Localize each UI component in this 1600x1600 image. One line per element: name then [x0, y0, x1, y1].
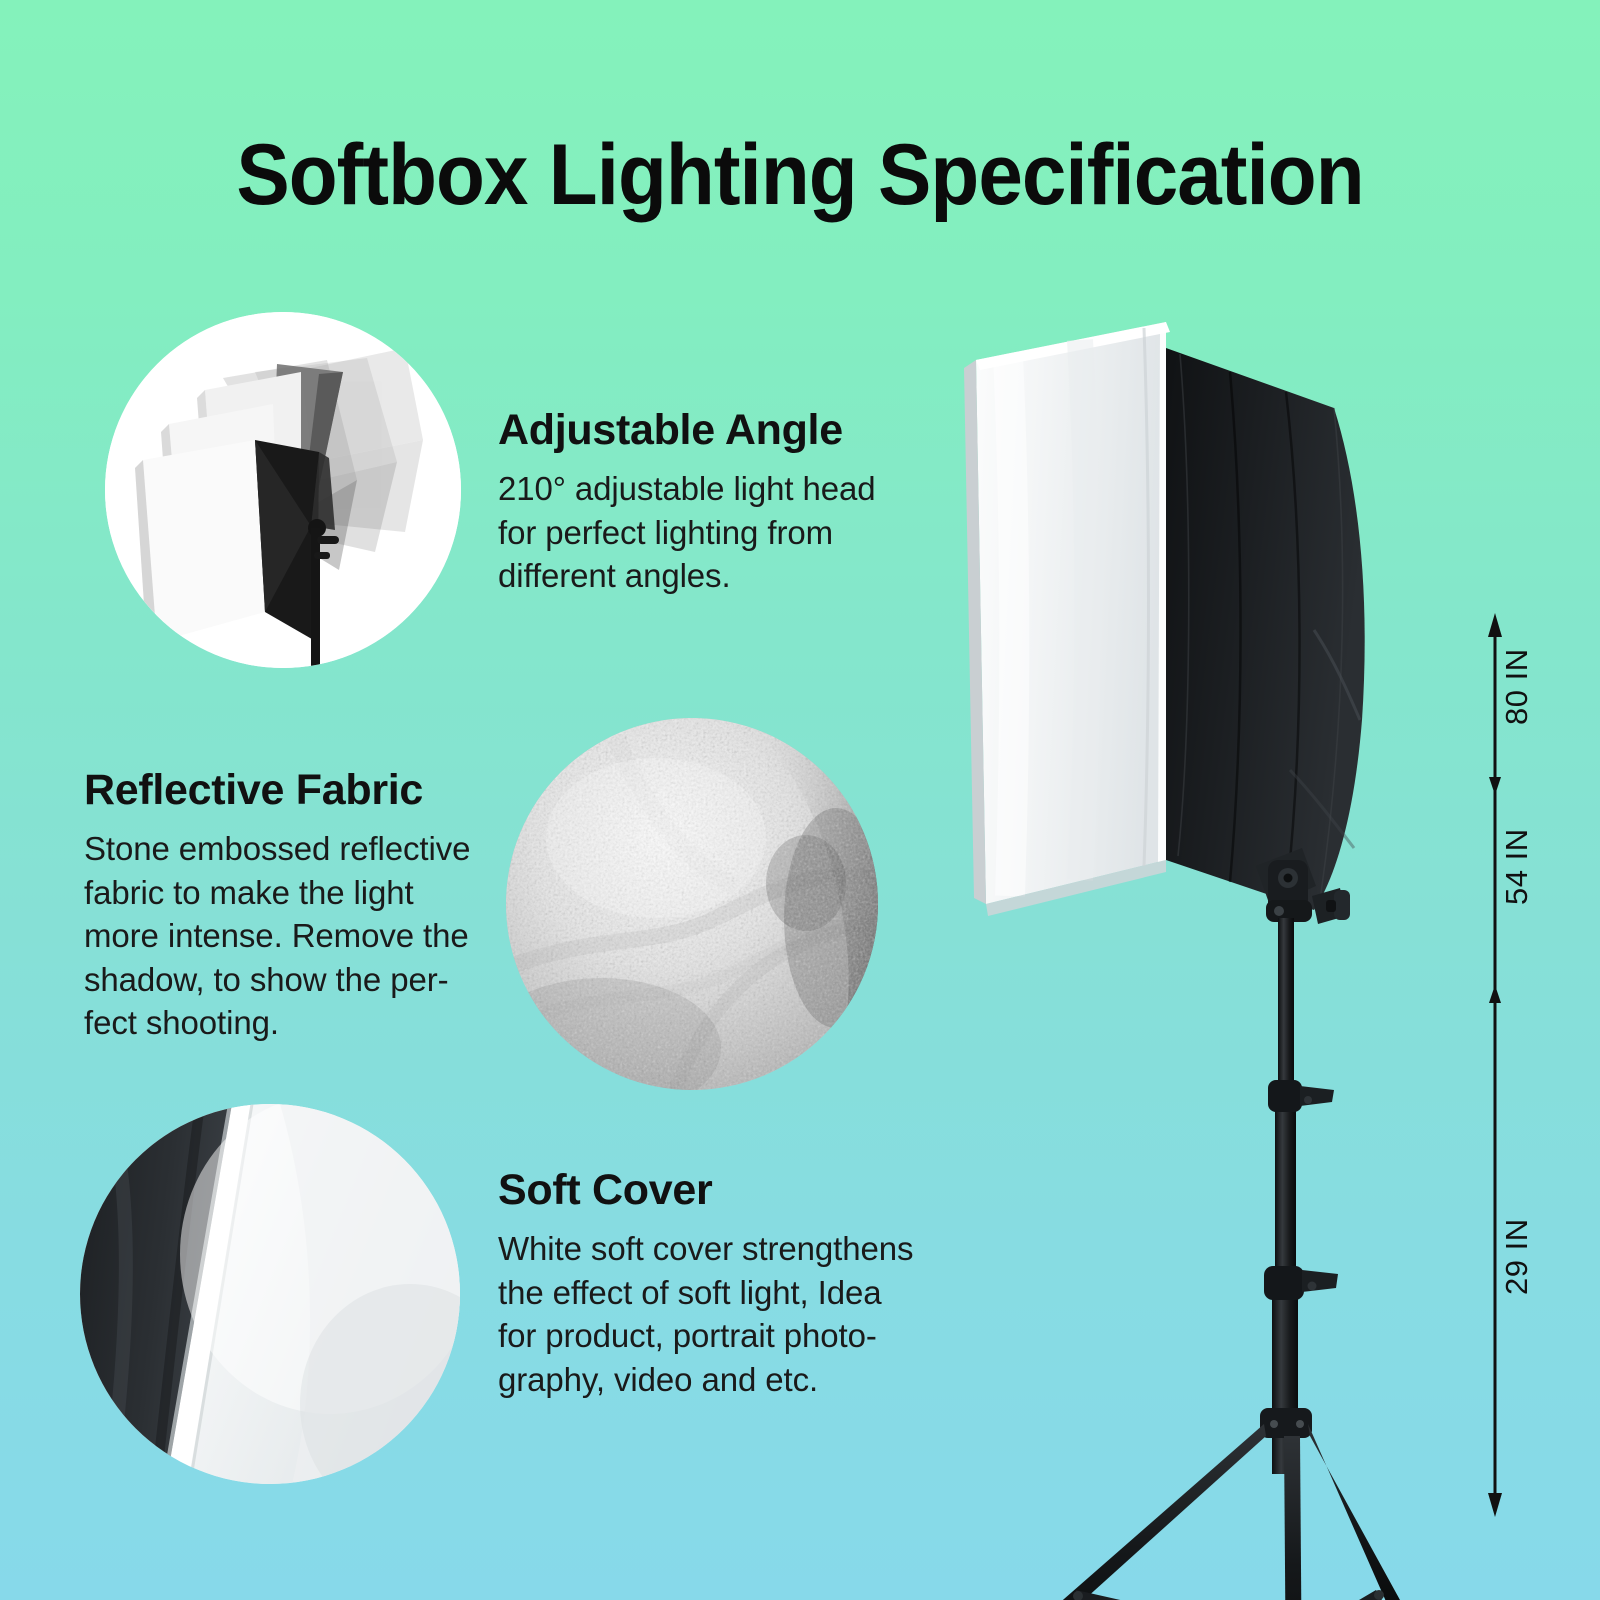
feature-body-line: different angles.: [498, 554, 918, 598]
feature-body-adjustable-angle: 210° adjustable light head for perfect l…: [498, 467, 918, 598]
feature-image-reflective-fabric: [506, 718, 878, 1090]
feature-body-line: White soft cover strengthens: [498, 1227, 928, 1271]
feature-body-line: 210° adjustable light head: [498, 467, 918, 511]
feature-body-line: the effect of soft light, Idea: [498, 1271, 928, 1315]
dimension-scale: 80 IN 54 IN 29 IN: [1455, 595, 1575, 1535]
feature-block-adjustable-angle: Adjustable Angle 210° adjustable light h…: [498, 408, 918, 598]
white-soft-cover-illustration: [80, 1104, 460, 1484]
dimension-label-80in: 80 IN: [1499, 648, 1535, 725]
page-title: Softbox Lighting Specification: [56, 132, 1544, 218]
feature-heading-soft-cover: Soft Cover: [498, 1168, 928, 1213]
feature-body-soft-cover: White soft cover strengthens the effect …: [498, 1227, 928, 1401]
feature-body-reflective-fabric: Stone embossed reflective fabric to make…: [84, 827, 484, 1045]
dimension-label-54in: 54 IN: [1499, 828, 1535, 905]
feature-block-soft-cover: Soft Cover White soft cover strengthens …: [498, 1168, 928, 1401]
feature-body-line: for perfect lighting from: [498, 511, 918, 555]
silver-stone-embossed-fabric-illustration: [506, 718, 878, 1090]
feature-body-line: Stone embossed reflective: [84, 827, 484, 871]
feature-image-adjustable-angle: [105, 312, 461, 668]
feature-heading-adjustable-angle: Adjustable Angle: [498, 408, 918, 453]
softbox-light-stand-illustration: [930, 300, 1450, 1540]
feature-body-line: fabric to make the light: [84, 871, 484, 915]
feature-image-soft-cover: [80, 1104, 460, 1484]
feature-body-line: shadow, to show the per-: [84, 958, 484, 1002]
feature-body-line: for product, portrait photo-: [498, 1314, 928, 1358]
feature-heading-reflective-fabric: Reflective Fabric: [84, 768, 484, 813]
feature-body-line: more intense. Remove the: [84, 914, 484, 958]
feature-block-reflective-fabric: Reflective Fabric Stone embossed reflect…: [84, 768, 484, 1045]
feature-body-line: graphy, video and etc.: [498, 1358, 928, 1402]
dimension-arrow: [1455, 595, 1575, 1535]
dimension-label-29in: 29 IN: [1499, 1218, 1535, 1295]
product-image-softbox-light-stand: [930, 300, 1450, 1540]
softbox-angle-range-illustration: [105, 312, 461, 668]
infographic-canvas: Softbox Lighting Specification: [0, 0, 1600, 1600]
feature-body-line: fect shooting.: [84, 1001, 484, 1045]
